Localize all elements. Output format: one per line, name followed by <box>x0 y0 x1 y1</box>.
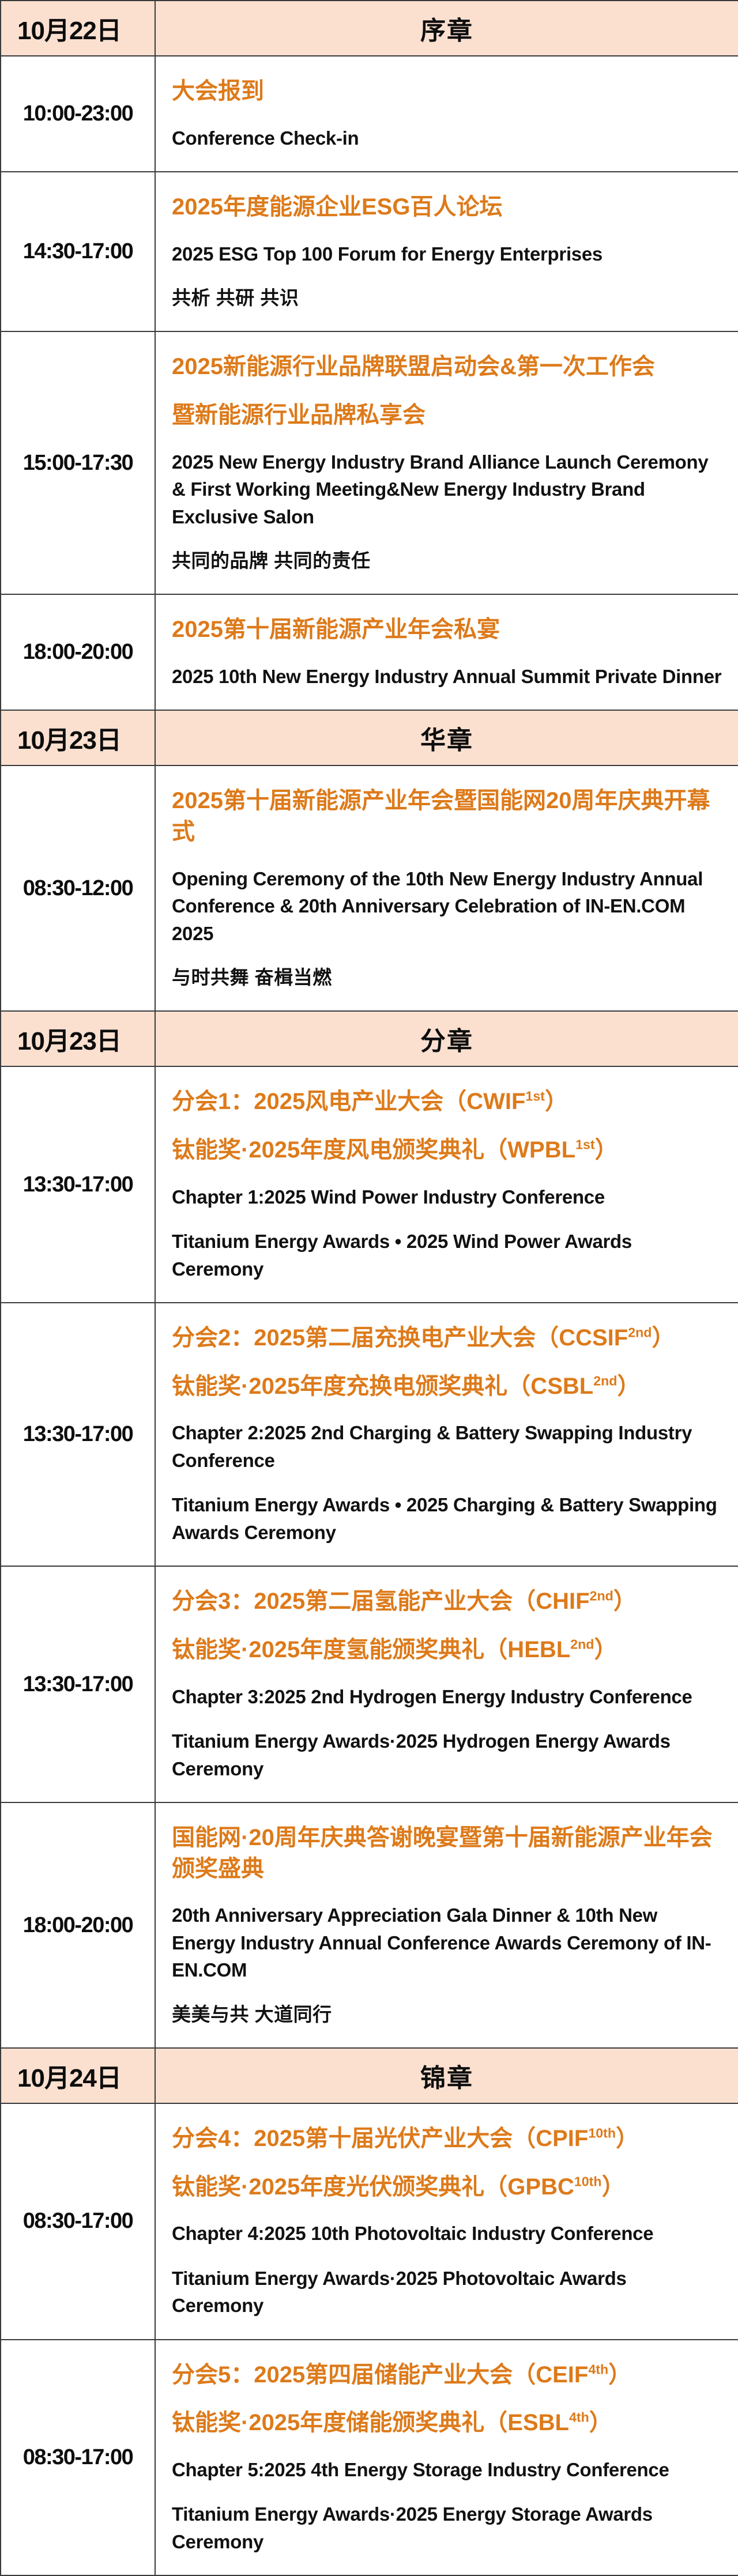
event-title-cn: 2025新能源行业品牌联盟启动会&第一次工作会 <box>172 352 723 383</box>
event-title-en: Titanium Energy Awards·2025 Photovoltaic… <box>172 2265 723 2319</box>
event-title-en: 2025 10th New Energy Industry Annual Sum… <box>172 663 723 691</box>
event-title-en: Titanium Energy Awards·2025 Hydrogen Ene… <box>172 1728 723 1782</box>
event-details: 2025第十届新能源产业年会私宴2025 10th New Energy Ind… <box>155 594 738 710</box>
agenda-event-row: 08:30-17:00分会5：2025第四届储能产业大会（CEIF4th）钛能奖… <box>1 2340 738 2576</box>
event-title-en: Chapter 4:2025 10th Photovoltaic Industr… <box>172 2220 723 2247</box>
event-title-cn: 分会5：2025第四届储能产业大会（CEIF4th） <box>172 2360 723 2391</box>
event-title-cn: 钛能奖·2025年度充换电颁奖典礼（CSBL2nd） <box>172 1371 723 1402</box>
event-time: 08:30-17:00 <box>1 2103 155 2340</box>
section-date: 10月23日 <box>1 1011 155 1066</box>
event-title-cn: 钛能奖·2025年度氢能颁奖典礼（HEBL2nd） <box>172 1635 723 1666</box>
event-title-cn: 大会报到 <box>172 76 723 107</box>
event-title-en: Chapter 2:2025 2nd Charging & Battery Sw… <box>172 1419 723 1474</box>
event-title-en: Titanium Energy Awards • 2025 Charging &… <box>172 1491 723 1546</box>
event-time: 13:30-17:00 <box>1 1066 155 1303</box>
event-title-cn: 分会2：2025第二届充换电产业大会（CCSIF2nd） <box>172 1323 723 1354</box>
event-time: 18:00-20:00 <box>1 594 155 710</box>
event-title-cn: 钛能奖·2025年度储能颁奖典礼（ESBL4th） <box>172 2408 723 2439</box>
event-title-cn: 暨新能源行业品牌私享会 <box>172 400 723 431</box>
agenda-event-row: 10:00-23:00大会报到Conference Check-in <box>1 56 738 172</box>
event-slogan: 共析 共研 共识 <box>172 285 723 311</box>
agenda-event-row: 13:30-17:00分会2：2025第二届充换电产业大会（CCSIF2nd）钛… <box>1 1303 738 1566</box>
event-title-cn: 国能网·20周年庆典答谢晚宴暨第十届新能源产业年会颁奖盛典 <box>172 1823 723 1884</box>
event-title-en: 2025 ESG Top 100 Forum for Energy Enterp… <box>172 240 723 268</box>
event-title-cn: 2025第十届新能源产业年会暨国能网20周年庆典开幕式 <box>172 786 723 847</box>
section-title: 分章 <box>155 1011 738 1066</box>
agenda-event-row: 15:00-17:302025新能源行业品牌联盟启动会&第一次工作会暨新能源行业… <box>1 331 738 594</box>
event-details: 分会2：2025第二届充换电产业大会（CCSIF2nd）钛能奖·2025年度充换… <box>155 1303 738 1566</box>
event-title-en: 2025 New Energy Industry Brand Alliance … <box>172 448 723 531</box>
event-time: 13:30-17:00 <box>1 1566 155 1802</box>
event-details: 2025年度能源企业ESG百人论坛2025 ESG Top 100 Forum … <box>155 172 738 331</box>
event-title-cn: 分会1：2025风电产业大会（CWIF1st） <box>172 1087 723 1118</box>
event-title-en: Titanium Energy Awards·2025 Energy Stora… <box>172 2500 723 2555</box>
agenda-event-row: 14:30-17:002025年度能源企业ESG百人论坛2025 ESG Top… <box>1 172 738 331</box>
section-header-row: 10月24日锦章 <box>1 2048 738 2103</box>
event-details: 2025新能源行业品牌联盟启动会&第一次工作会暨新能源行业品牌私享会2025 N… <box>155 331 738 594</box>
section-date: 10月22日 <box>1 1 155 56</box>
event-details: 大会报到Conference Check-in <box>155 56 738 172</box>
event-details: 分会3：2025第二届氢能产业大会（CHIF2nd）钛能奖·2025年度氢能颁奖… <box>155 1566 738 1802</box>
event-details: 分会1：2025风电产业大会（CWIF1st）钛能奖·2025年度风电颁奖典礼（… <box>155 1066 738 1303</box>
event-title-cn: 钛能奖·2025年度光伏颁奖典礼（GPBC10th） <box>172 2172 723 2203</box>
section-header-row: 10月23日分章 <box>1 1011 738 1066</box>
section-title: 序章 <box>155 1 738 56</box>
event-slogan: 共同的品牌 共同的责任 <box>172 548 723 574</box>
event-title-cn: 2025年度能源企业ESG百人论坛 <box>172 192 723 223</box>
section-title: 华章 <box>155 710 738 765</box>
agenda-event-row: 18:00-20:00国能网·20周年庆典答谢晚宴暨第十届新能源产业年会颁奖盛典… <box>1 1802 738 2048</box>
event-time: 13:30-17:00 <box>1 1303 155 1566</box>
agenda-event-row: 08:30-17:00分会4：2025第十届光伏产业大会（CPIF10th）钛能… <box>1 2103 738 2340</box>
event-time: 15:00-17:30 <box>1 331 155 594</box>
event-title-cn: 2025第十届新能源产业年会私宴 <box>172 614 723 646</box>
event-time: 08:30-17:00 <box>1 2340 155 2576</box>
event-title-en: Chapter 5:2025 4th Energy Storage Indust… <box>172 2456 723 2484</box>
event-time: 18:00-20:00 <box>1 1802 155 2048</box>
section-header-row: 10月23日华章 <box>1 710 738 765</box>
agenda-event-row: 18:00-20:002025第十届新能源产业年会私宴2025 10th New… <box>1 594 738 710</box>
conference-agenda-table: 10月22日序章10:00-23:00大会报到Conference Check-… <box>0 0 738 2576</box>
event-details: 2025第十届新能源产业年会暨国能网20周年庆典开幕式Opening Cerem… <box>155 765 738 1011</box>
event-details: 国能网·20周年庆典答谢晚宴暨第十届新能源产业年会颁奖盛典20th Annive… <box>155 1802 738 2048</box>
event-title-cn: 钛能奖·2025年度风电颁奖典礼（WPBL1st） <box>172 1135 723 1166</box>
section-title: 锦章 <box>155 2048 738 2103</box>
event-details: 分会4：2025第十届光伏产业大会（CPIF10th）钛能奖·2025年度光伏颁… <box>155 2103 738 2340</box>
event-time: 14:30-17:00 <box>1 172 155 331</box>
event-time: 08:30-12:00 <box>1 765 155 1011</box>
event-title-en: Opening Ceremony of the 10th New Energy … <box>172 865 723 948</box>
section-date: 10月24日 <box>1 2048 155 2103</box>
event-title-cn: 分会3：2025第二届氢能产业大会（CHIF2nd） <box>172 1586 723 1617</box>
event-title-en: Conference Check-in <box>172 125 723 152</box>
event-slogan: 与时共舞 奋楫当燃 <box>172 964 723 991</box>
event-slogan: 美美与共 大道同行 <box>172 2001 723 2028</box>
event-title-en: Titanium Energy Awards • 2025 Wind Power… <box>172 1228 723 1283</box>
event-details: 分会5：2025第四届储能产业大会（CEIF4th）钛能奖·2025年度储能颁奖… <box>155 2340 738 2576</box>
agenda-event-row: 13:30-17:00分会3：2025第二届氢能产业大会（CHIF2nd）钛能奖… <box>1 1566 738 1802</box>
event-time: 10:00-23:00 <box>1 56 155 172</box>
agenda-event-row: 08:30-12:002025第十届新能源产业年会暨国能网20周年庆典开幕式Op… <box>1 765 738 1011</box>
event-title-en: Chapter 1:2025 Wind Power Industry Confe… <box>172 1183 723 1211</box>
event-title-cn: 分会4：2025第十届光伏产业大会（CPIF10th） <box>172 2124 723 2155</box>
agenda-event-row: 13:30-17:00分会1：2025风电产业大会（CWIF1st）钛能奖·20… <box>1 1066 738 1303</box>
section-header-row: 10月22日序章 <box>1 1 738 56</box>
event-title-en: 20th Anniversary Appreciation Gala Dinne… <box>172 1902 723 1984</box>
event-title-en: Chapter 3:2025 2nd Hydrogen Energy Indus… <box>172 1683 723 1711</box>
section-date: 10月23日 <box>1 710 155 765</box>
